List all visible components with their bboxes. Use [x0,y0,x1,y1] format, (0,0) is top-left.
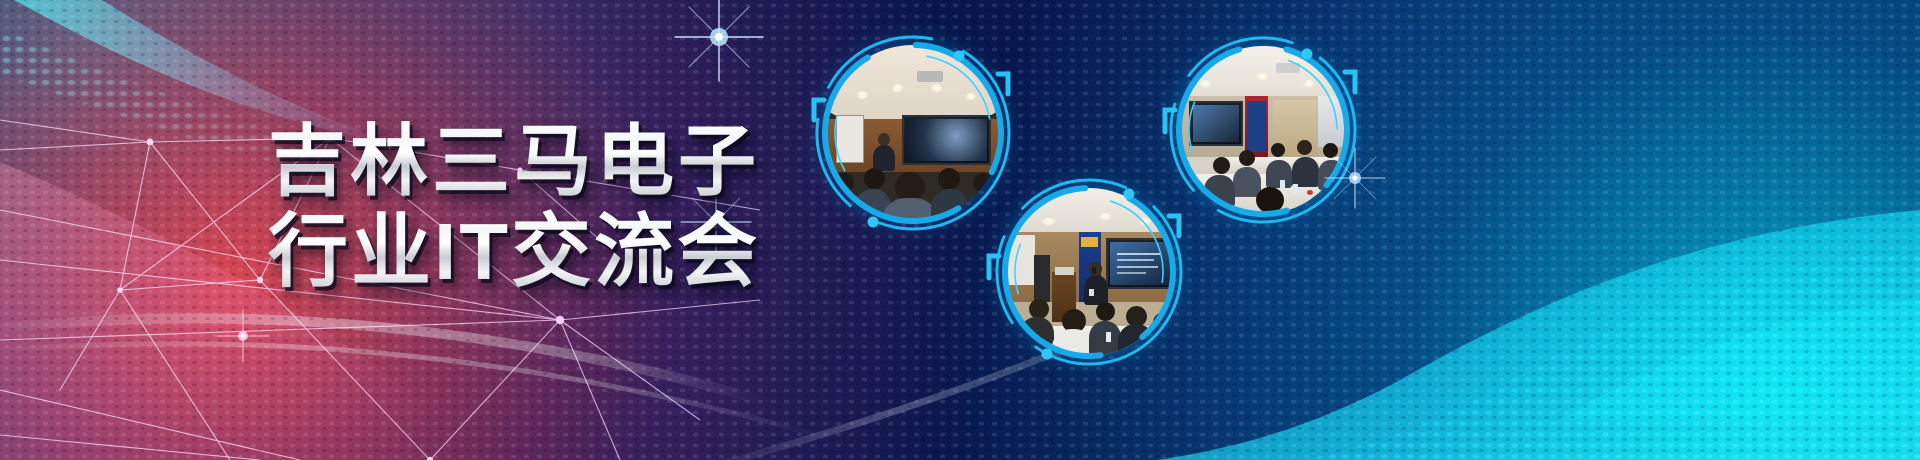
banner-root: 吉林三马电子 行业IT交流会 [0,0,1920,460]
title-line-1: 吉林三马电子 [268,118,788,205]
title-line-2: 行业IT交流会 [268,207,788,297]
photo-circle-speaker[interactable] [981,164,1197,380]
page-title: 吉林三马电子 行业IT交流会 [268,118,788,297]
circle-ring-decor [981,164,1197,380]
